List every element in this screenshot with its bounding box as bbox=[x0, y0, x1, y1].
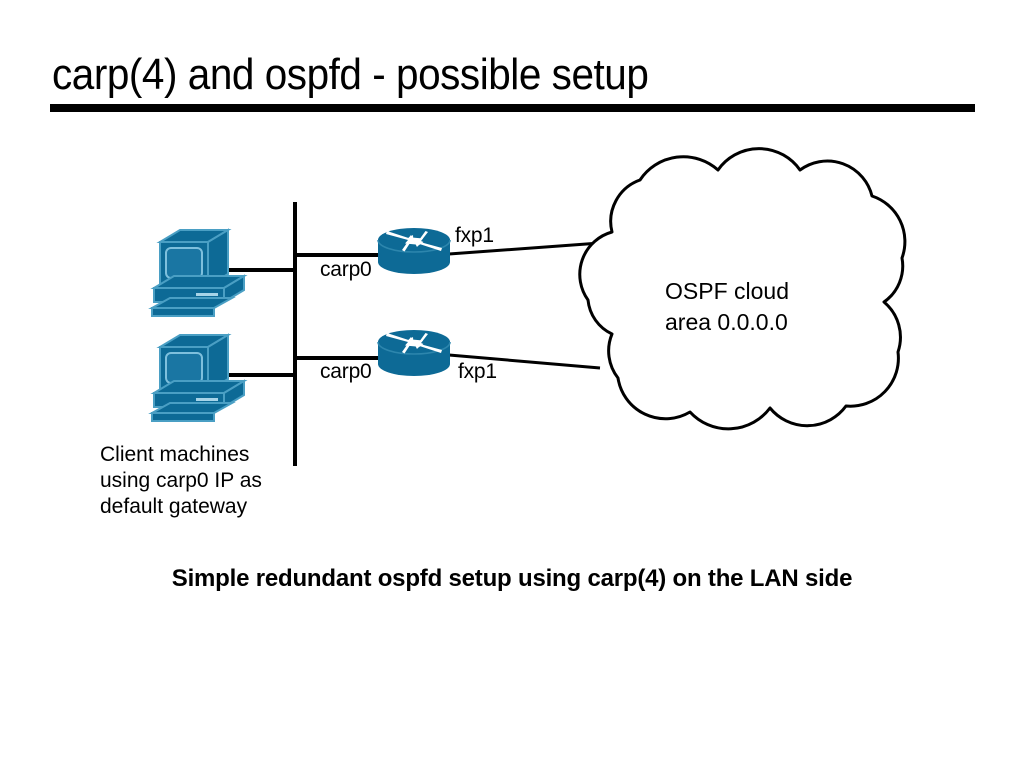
client-note-line-2: using carp0 IP as bbox=[100, 468, 262, 494]
network-topology-diagram bbox=[0, 0, 1024, 768]
interface-label-carp0-top: carp0 bbox=[320, 258, 372, 282]
interface-label-fxp1-bottom: fxp1 bbox=[458, 360, 497, 384]
ospf-cloud-line-2: area 0.0.0.0 bbox=[665, 307, 789, 338]
ospf-cloud-line-1: OSPF cloud bbox=[665, 276, 789, 307]
ospf-cloud-label: OSPF cloud area 0.0.0.0 bbox=[665, 276, 789, 338]
diagram-canvas bbox=[0, 0, 1024, 768]
client-note-line-1: Client machines bbox=[100, 442, 262, 468]
router-top bbox=[378, 228, 450, 274]
client-note-line-3: default gateway bbox=[100, 494, 262, 520]
client-machine-top bbox=[152, 230, 244, 316]
interface-label-carp0-bottom: carp0 bbox=[320, 360, 372, 384]
client-machines-note: Client machines using carp0 IP as defaul… bbox=[100, 442, 262, 520]
router-bottom bbox=[378, 330, 450, 376]
slide-caption: Simple redundant ospfd setup using carp(… bbox=[0, 565, 1024, 593]
client-machine-bottom bbox=[152, 335, 244, 421]
interface-label-fxp1-top: fxp1 bbox=[455, 224, 494, 248]
